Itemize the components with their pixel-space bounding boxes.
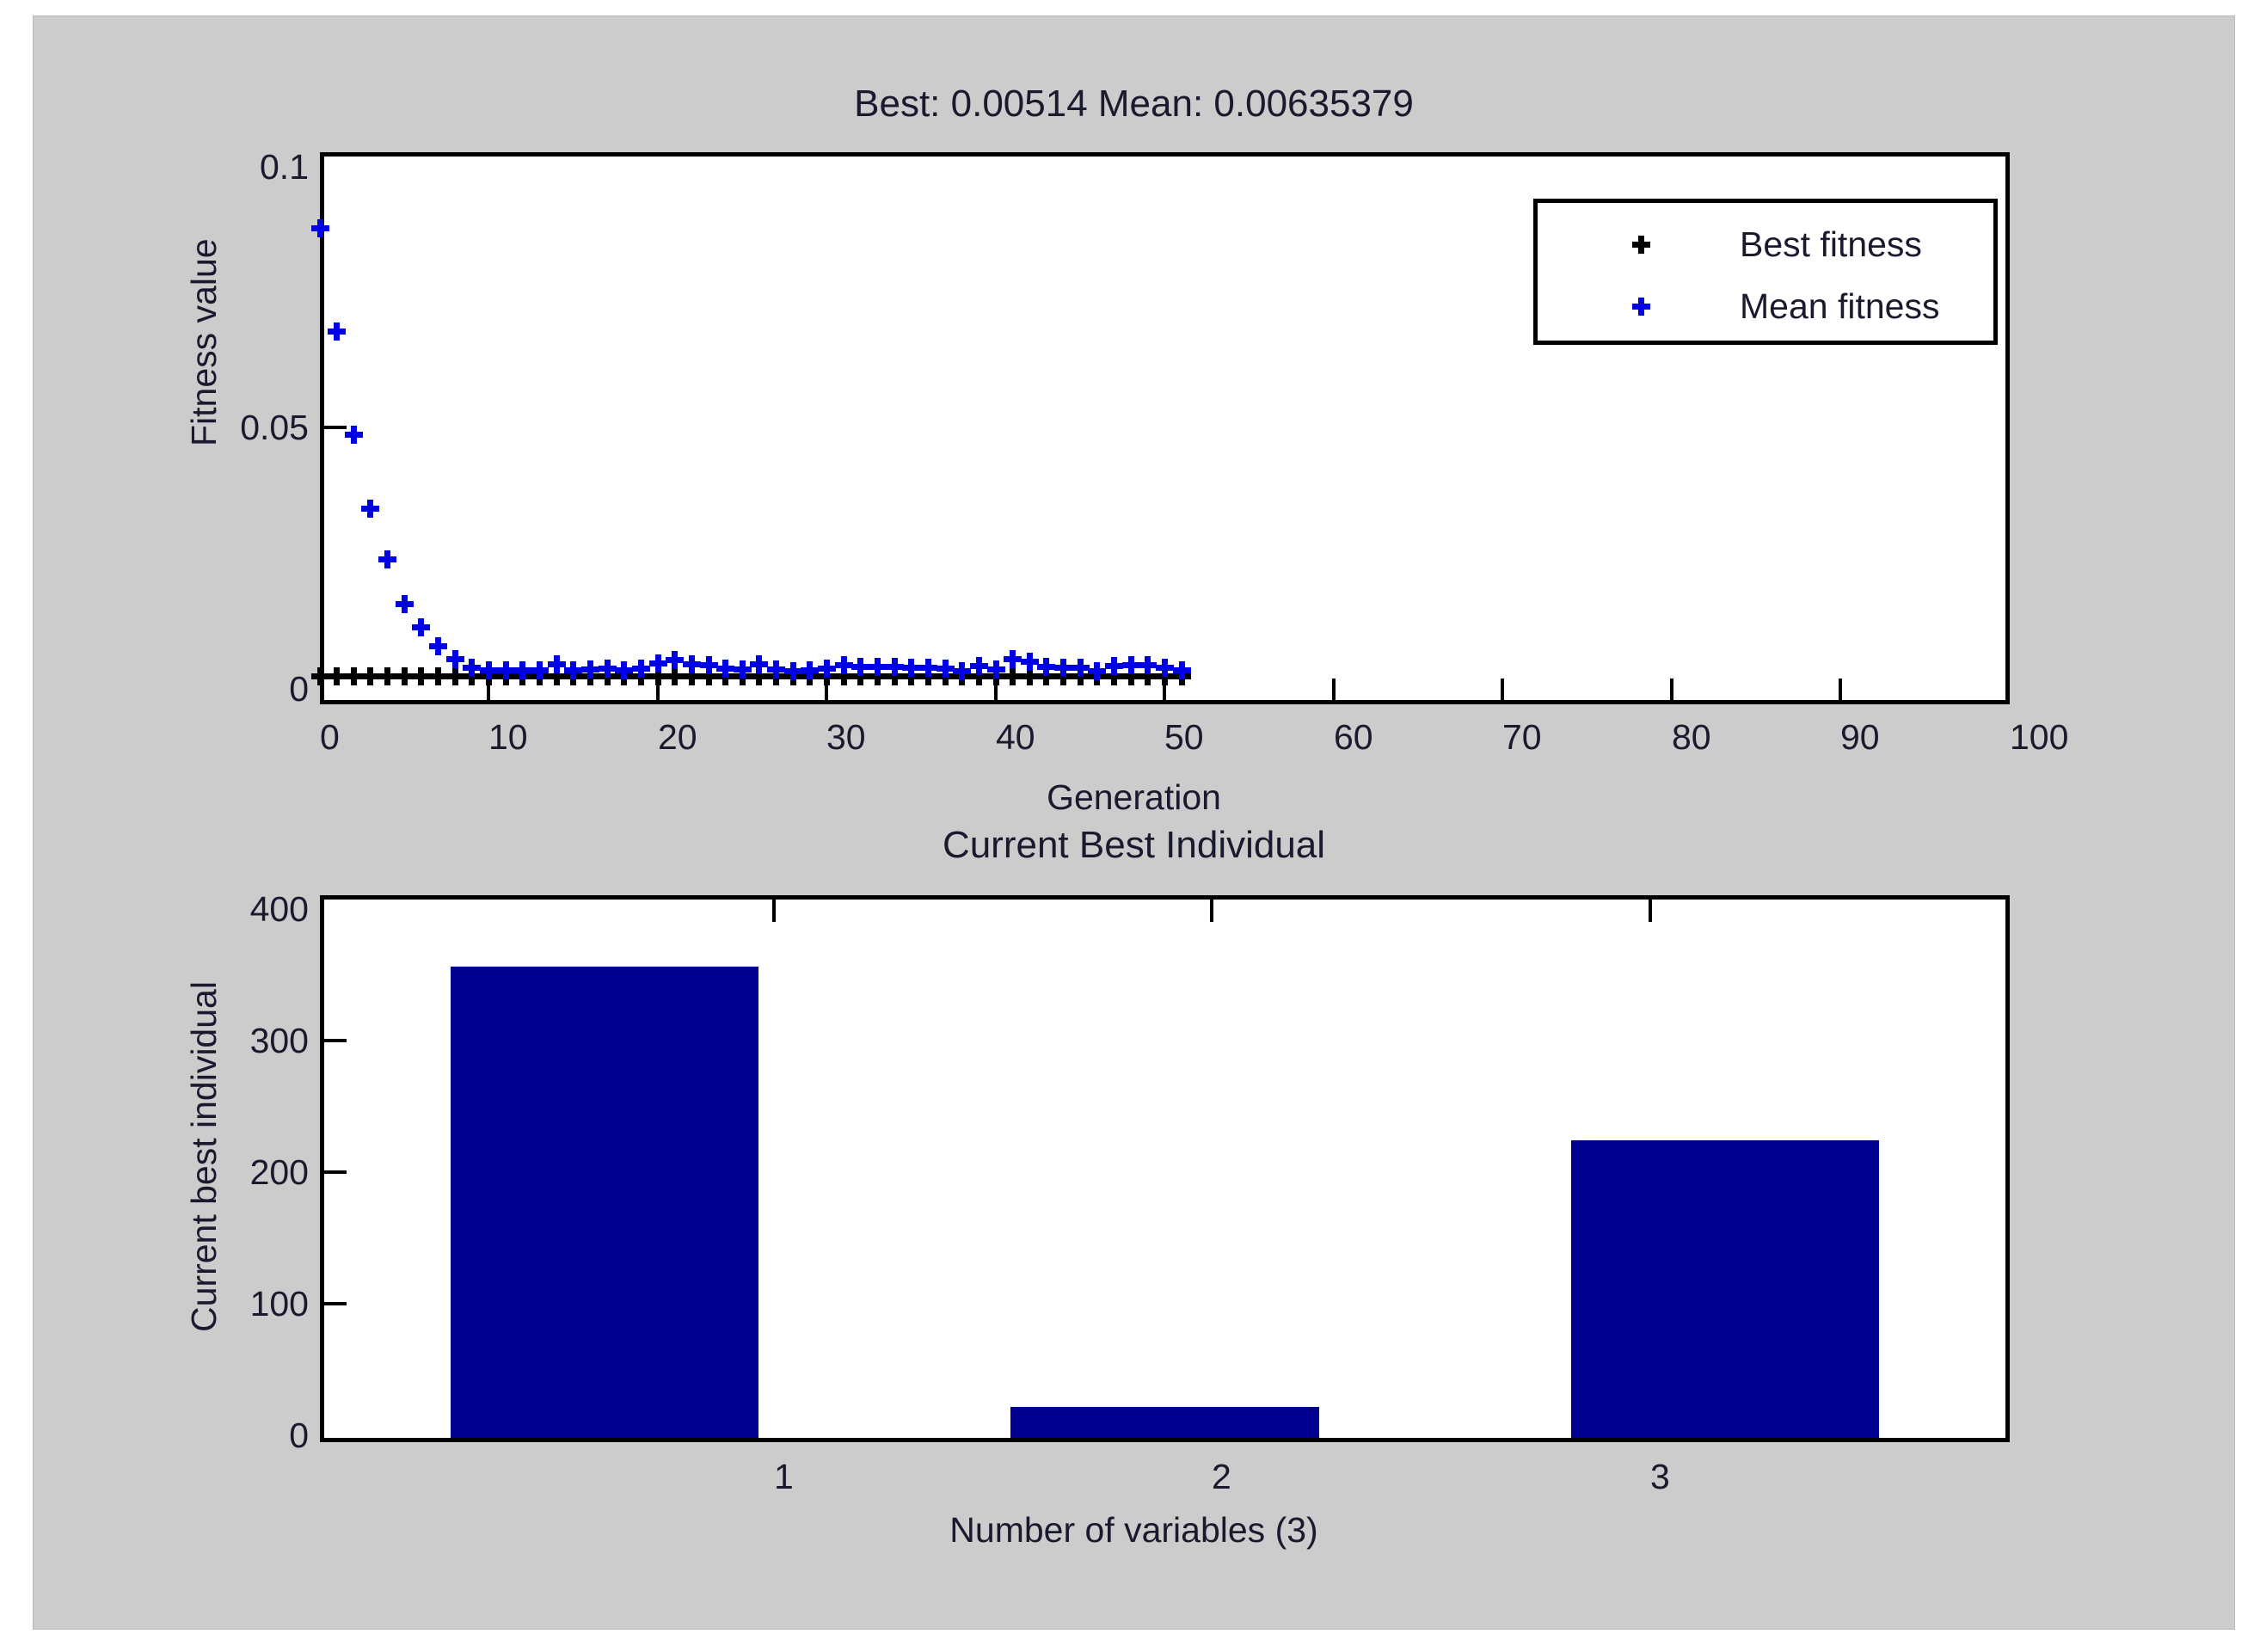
individual-bar xyxy=(1010,1407,1318,1438)
figure-panel: Best: 0.00514 Mean: 0.00635379 Fitness v… xyxy=(33,15,2235,1630)
individual-bar xyxy=(1571,1140,1879,1438)
individual-bar-layer xyxy=(34,16,2234,1629)
individual-bar xyxy=(451,967,758,1438)
matlab-ga-plot-window: Best: 0.00514 Mean: 0.00635379 Fitness v… xyxy=(0,0,2266,1652)
